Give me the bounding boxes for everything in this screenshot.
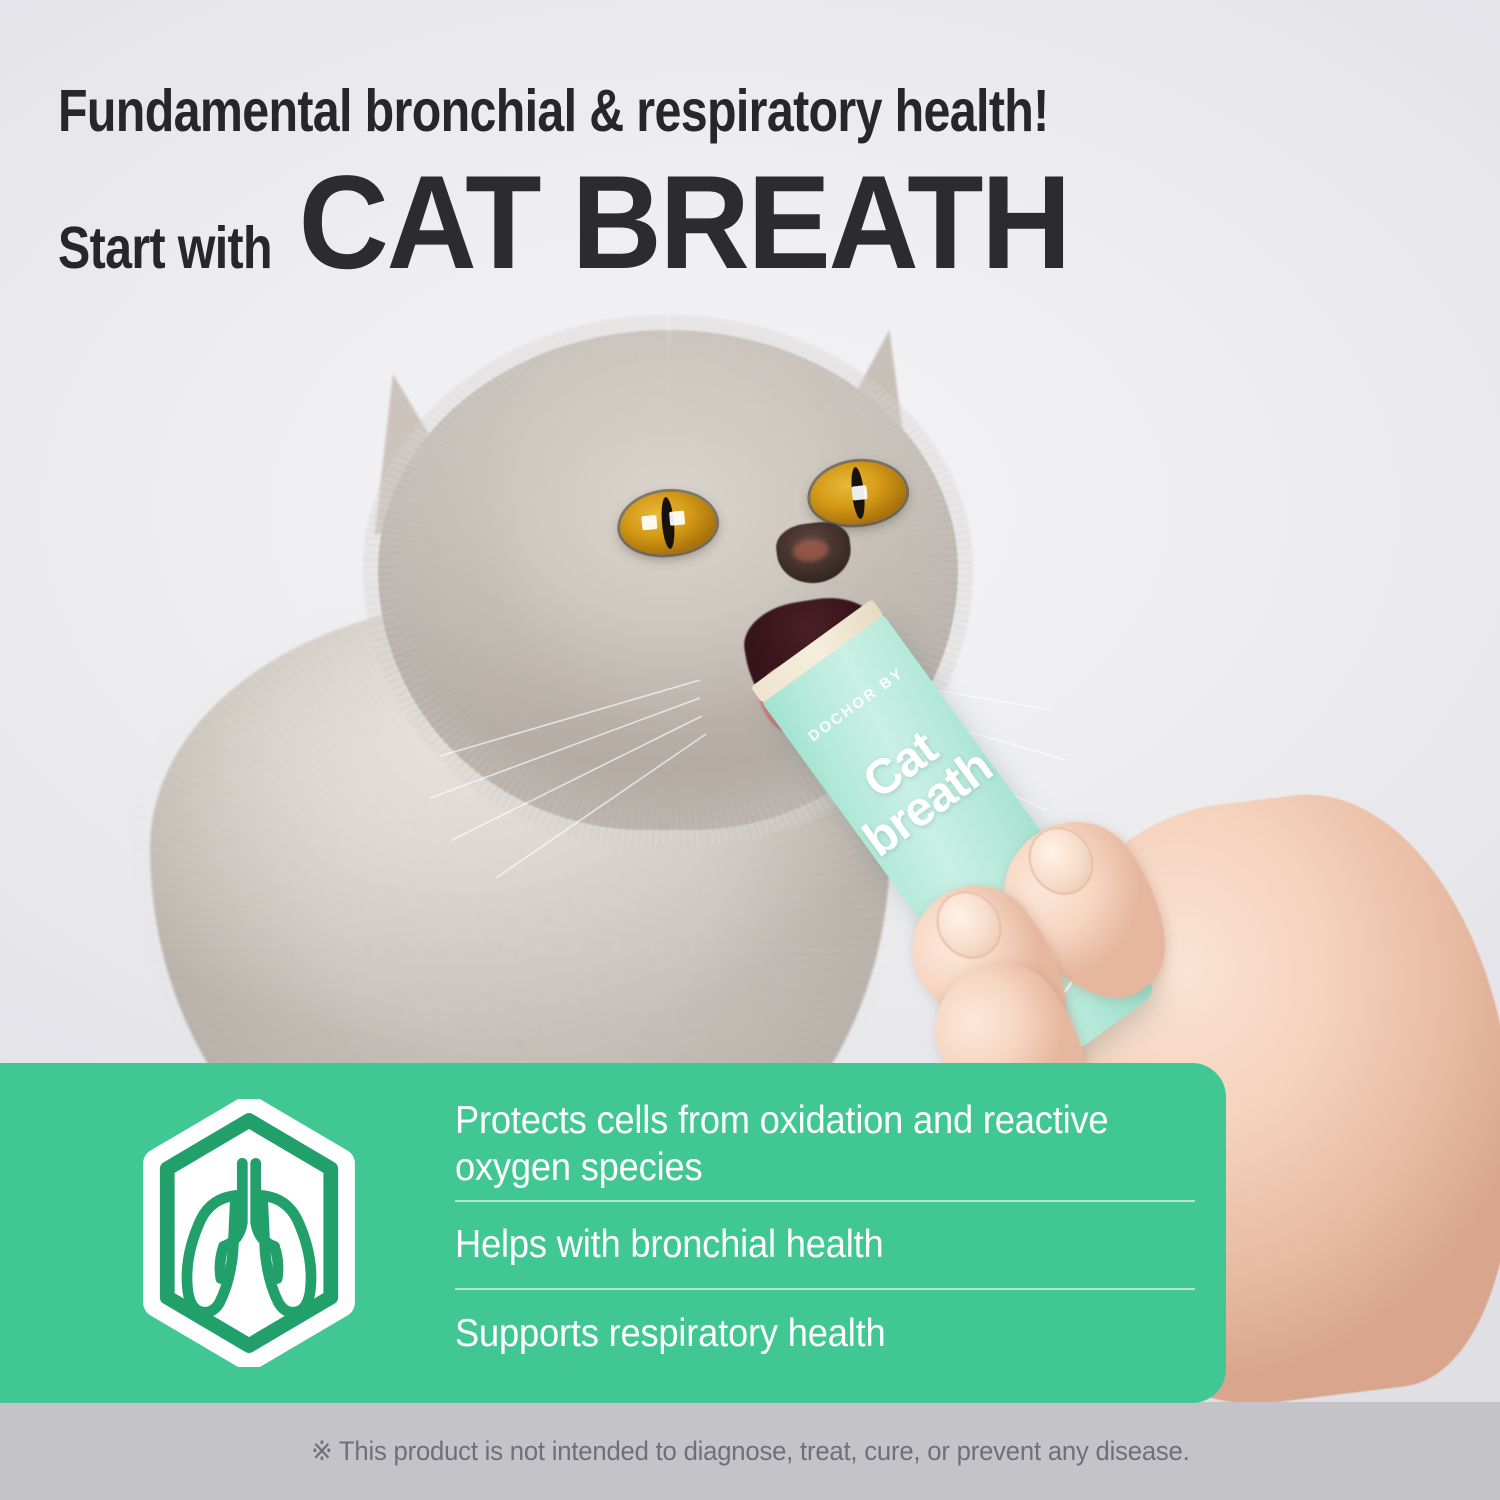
headline-subtitle: Fundamental bronchial & respiratory heal… xyxy=(58,82,1049,141)
feature-panel: Protects cells from oxidation and reacti… xyxy=(0,1063,1226,1403)
headline-main-row: Start with CAT BREATH xyxy=(58,168,1266,282)
feature-list: Protects cells from oxidation and reacti… xyxy=(455,1089,1195,1377)
eye-glint xyxy=(851,485,867,500)
feature-item: Protects cells from oxidation and reacti… xyxy=(455,1089,1143,1200)
disclaimer-text: ※ This product is not intended to diagno… xyxy=(311,1436,1189,1467)
footer-band: ※ This product is not intended to diagno… xyxy=(0,1402,1500,1500)
headline: Fundamental bronchial & respiratory heal… xyxy=(58,82,1266,282)
eye-glint xyxy=(641,515,657,530)
product-advertisement-poster: DOCHOR BY Cat breath Fundamental bronchi… xyxy=(0,0,1500,1500)
page-title: CAT BREATH xyxy=(298,168,1069,280)
feature-item: Helps with bronchial health xyxy=(455,1202,1143,1289)
lungs-hexagon-icon xyxy=(115,1099,383,1367)
headline-prefix: Start with xyxy=(58,214,272,282)
feature-item: Supports respiratory health xyxy=(455,1290,1143,1377)
eye-glint xyxy=(669,511,685,526)
